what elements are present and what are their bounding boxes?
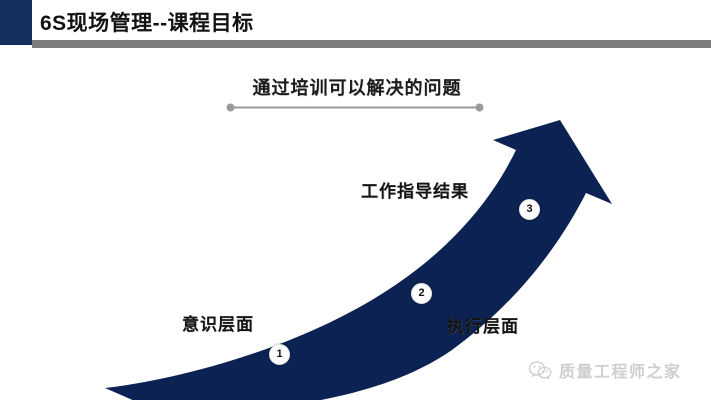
stage-label-awareness: 意识层面 xyxy=(182,310,254,335)
step-marker-1: 1 xyxy=(269,344,290,365)
growth-arrow-graphic xyxy=(0,0,711,400)
stage-label-execution: 执行层面 xyxy=(447,312,519,337)
watermark-text: 质量工程师之家 xyxy=(559,358,682,382)
watermark: 质量工程师之家 xyxy=(528,358,682,382)
wechat-icon xyxy=(528,360,552,381)
stage-label-result: 工作指导结果 xyxy=(361,177,469,202)
step-marker-3: 3 xyxy=(519,199,540,220)
step-marker-2: 2 xyxy=(411,283,432,304)
slide-canvas: 6S现场管理--课程目标 通过培训可以解决的问题 意识层面 执行层面 工作指导结… xyxy=(0,0,711,400)
